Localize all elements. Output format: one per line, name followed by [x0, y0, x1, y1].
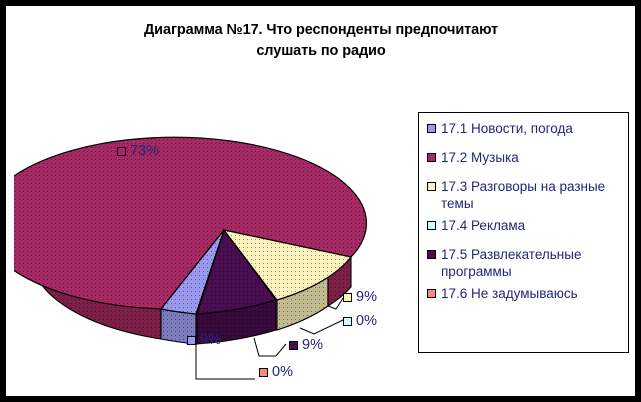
legend-spacer: [427, 168, 622, 178]
legend-item-muzyka[interactable]: 17.2 Музыка: [427, 149, 622, 166]
legend-swatch-reklama: [427, 221, 436, 230]
leader-line-razvlekatelnye: [254, 338, 286, 356]
legend-label-ne-zadumyvayus: 17.6 Не задумываюсь: [441, 285, 578, 302]
legend-spacer: [427, 139, 622, 149]
data-label-muzyka: 73%: [117, 144, 159, 158]
data-label-razgovory: 9%: [343, 290, 377, 304]
legend-label-reklama: 17.4 Реклама: [441, 217, 525, 234]
legend-item-reklama[interactable]: 17.4 Реклама: [427, 217, 622, 234]
legend-swatch-razgovory: [427, 182, 436, 191]
data-label-text-reklama: 0%: [356, 314, 377, 328]
legend-item-razgovory[interactable]: 17.3 Разговоры на разные темы: [427, 178, 622, 212]
pie-chart: [14, 106, 414, 396]
chart-legend: 17.1 Новости, погода 17.2 Музыка 17.3 Ра…: [418, 112, 629, 353]
legend-spacer: [427, 236, 622, 246]
data-label-text-muzyka: 73%: [130, 144, 159, 158]
chart-title-line2: слушать по радио: [66, 41, 576, 62]
legend-label-muzyka: 17.2 Музыка: [441, 149, 519, 166]
legend-item-razvlekatelnye[interactable]: 17.5 Развлекательные программы: [427, 246, 622, 280]
data-label-swatch-razvlekatelnye: [289, 341, 298, 350]
chart-title-line1: Диаграмма №17. Что респонденты предпочит…: [66, 20, 576, 41]
legend-swatch-muzyka: [427, 153, 436, 162]
legend-swatch-razvlekatelnye: [427, 250, 436, 259]
data-label-reklama: 0%: [343, 314, 377, 328]
data-label-novosti: 9%: [187, 333, 221, 347]
data-label-text-ne-zadumyvayus: 0%: [272, 365, 293, 379]
data-label-swatch-razgovory: [343, 293, 352, 302]
pie-chart-svg: [14, 106, 414, 396]
data-label-text-razgovory: 9%: [356, 290, 377, 304]
chart-image: Диаграмма №17. Что респонденты предпочит…: [0, 0, 641, 402]
data-label-swatch-ne-zadumyvayus: [259, 368, 268, 377]
data-label-razvlekatelnye: 9%: [289, 338, 323, 352]
legend-swatch-ne-zadumyvayus: [427, 289, 436, 298]
chart-title: Диаграмма №17. Что респонденты предпочит…: [66, 20, 576, 62]
legend-item-novosti[interactable]: 17.1 Новости, погода: [427, 120, 622, 137]
data-label-swatch-reklama: [343, 317, 352, 326]
legend-label-novosti: 17.1 Новости, погода: [441, 120, 573, 137]
data-label-swatch-muzyka: [117, 147, 126, 156]
legend-label-razgovory: 17.3 Разговоры на разные темы: [441, 178, 622, 212]
data-label-swatch-novosti: [187, 336, 196, 345]
data-label-text-razvlekatelnye: 9%: [302, 338, 323, 352]
leader-line-reklama: [300, 319, 345, 334]
data-label-ne-zadumyvayus: 0%: [259, 365, 293, 379]
data-label-text-novosti: 9%: [200, 333, 221, 347]
legend-label-razvlekatelnye: 17.5 Развлекательные программы: [441, 246, 622, 280]
legend-item-ne-zadumyvayus[interactable]: 17.6 Не задумываюсь: [427, 285, 622, 302]
legend-swatch-novosti: [427, 124, 436, 133]
leader-line-ne-zadumyvayus: [196, 344, 255, 379]
